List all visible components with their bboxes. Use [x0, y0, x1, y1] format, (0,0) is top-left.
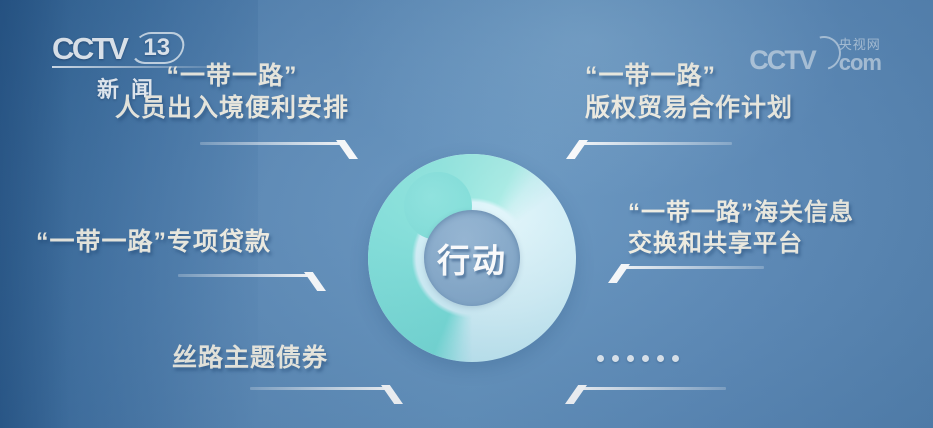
- label-special-loan: “一带一路”专项贷款: [36, 226, 336, 258]
- connector-bar: [581, 387, 726, 390]
- label-copyright-trade-line2: 版权贸易合作计划: [585, 92, 905, 124]
- connector-ellipsis: [565, 385, 730, 405]
- label-entry-exit: “一带一路” 人员出入境便利安排: [82, 60, 382, 124]
- connector-bar: [178, 274, 308, 277]
- center-label: 行动: [437, 234, 507, 282]
- ellipsis-dot: [657, 355, 664, 362]
- connector-bar: [250, 387, 385, 390]
- ellipsis-dots: [597, 355, 679, 362]
- connector-copyright-trade: [566, 140, 736, 160]
- label-customs-info-line2: 交换和共享平台: [628, 229, 928, 260]
- connector-customs-info: [608, 264, 768, 284]
- label-silk-road-bond-line1: 丝路主题债券: [172, 342, 402, 374]
- connector-bar: [582, 142, 732, 145]
- connector-silk-road-bond: [250, 385, 405, 405]
- label-customs-info-line1: “一带一路”海关信息: [628, 198, 928, 229]
- connector-tail-right: [381, 385, 403, 404]
- label-customs-info: “一带一路”海关信息 交换和共享平台: [628, 198, 928, 259]
- label-special-loan-line1: “一带一路”专项贷款: [36, 226, 336, 258]
- label-ellipsis: [597, 355, 679, 362]
- cctv-wordmark: CCTV: [52, 33, 126, 64]
- ellipsis-dot: [612, 355, 619, 362]
- ellipsis-dot: [672, 355, 679, 362]
- ellipsis-dot: [642, 355, 649, 362]
- broadcast-graphic: CCTV 13 新闻 CCTV 央视网 com 行动 “一带一路” 人员出入境便…: [0, 0, 933, 428]
- ellipsis-dot: [597, 355, 604, 362]
- connector-bar: [624, 266, 764, 269]
- center-circle: 行动: [368, 154, 576, 362]
- label-silk-road-bond: 丝路主题债券: [172, 342, 402, 374]
- label-copyright-trade: “一带一路” 版权贸易合作计划: [585, 60, 905, 124]
- label-entry-exit-line1: “一带一路”: [82, 60, 382, 92]
- circle-inner-disc: 行动: [424, 210, 520, 306]
- channel-number: 13: [143, 35, 170, 60]
- connector-special-loan: [178, 272, 328, 292]
- ellipsis-dot: [627, 355, 634, 362]
- label-entry-exit-line2: 人员出入境便利安排: [82, 92, 382, 124]
- connector-entry-exit: [200, 140, 360, 160]
- label-copyright-trade-line1: “一带一路”: [585, 60, 905, 92]
- connector-tail-right: [336, 140, 358, 159]
- connector-tail-right: [304, 272, 326, 291]
- connector-bar: [200, 142, 340, 145]
